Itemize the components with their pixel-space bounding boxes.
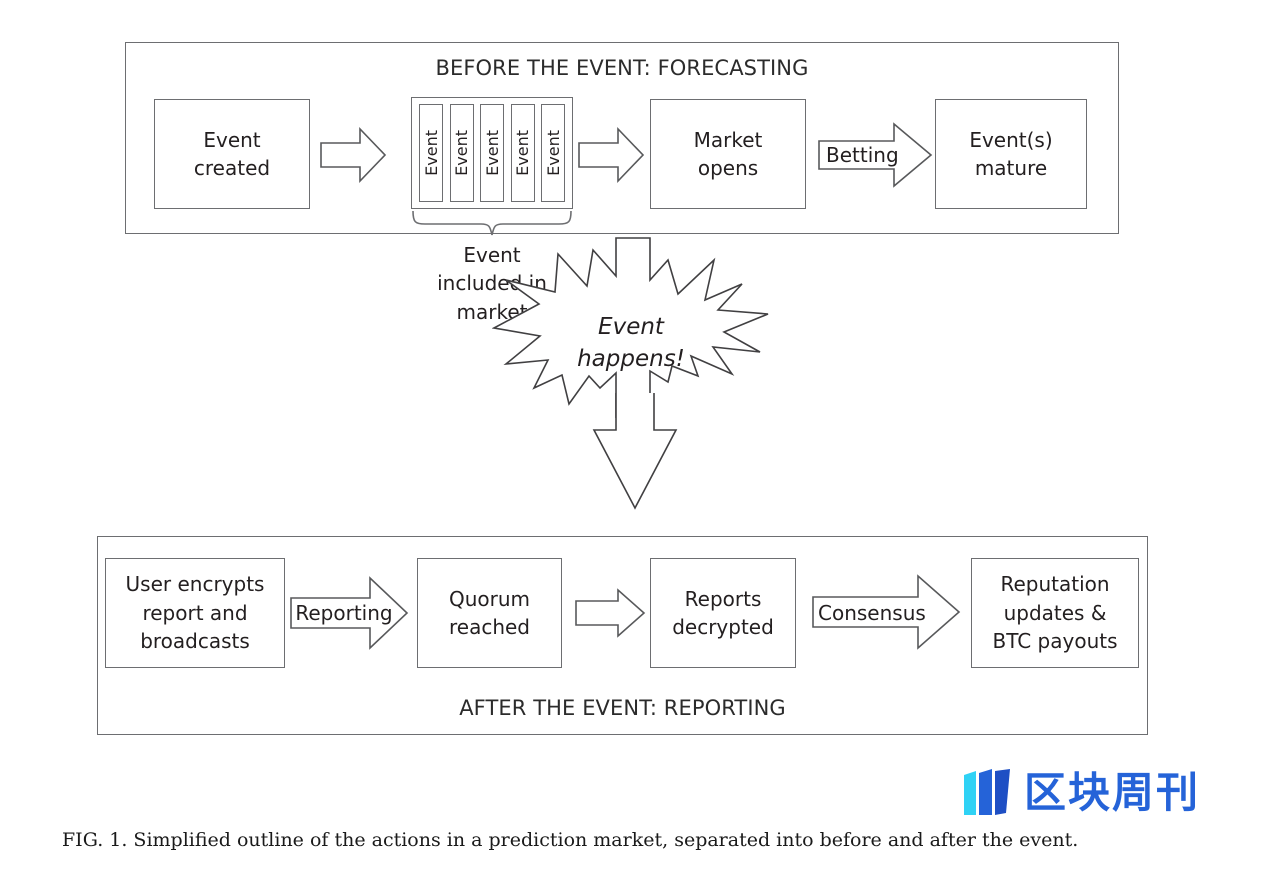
curly-brace-icon <box>411 210 573 236</box>
stack-card[interactable]: Event <box>541 104 565 202</box>
stack-card-label: Event <box>452 130 471 176</box>
stack-card[interactable]: Event <box>480 104 504 202</box>
box-market-opens[interactable]: Marketopens <box>650 99 806 209</box>
panel-before-title: BEFORE THE EVENT: FORECASTING <box>126 56 1118 80</box>
stack-card-label: Event <box>483 130 502 176</box>
stack-card-label: Event <box>544 130 563 176</box>
arrow-right-icon <box>578 126 644 184</box>
arrow-right-icon <box>320 126 386 184</box>
box-reputation-updates[interactable]: Reputationupdates &BTC payouts <box>971 558 1139 668</box>
arrow-down-icon <box>592 392 678 510</box>
logo-text: 区块周刊 <box>1024 772 1200 814</box>
event-stack[interactable]: Event Event Event Event Event <box>411 97 573 209</box>
box-quorum-reached[interactable]: Quorumreached <box>417 558 562 668</box>
box-user-encrypts-report[interactable]: User encryptsreport andbroadcasts <box>105 558 285 668</box>
box-reports-decrypted[interactable]: Reportsdecrypted <box>650 558 796 668</box>
arrow-label-consensus: Consensus <box>818 601 924 625</box>
stack-card-label: Event <box>513 130 532 176</box>
stack-card-label: Event <box>422 130 441 176</box>
arrow-label-betting: Betting <box>826 143 898 167</box>
box-event-created[interactable]: Eventcreated <box>154 99 310 209</box>
stack-card[interactable]: Event <box>511 104 535 202</box>
stack-card[interactable]: Event <box>419 104 443 202</box>
panel-after-title: AFTER THE EVENT: REPORTING <box>98 696 1147 720</box>
arrow-right-icon <box>575 588 645 638</box>
logo-mark-icon <box>962 769 1014 817</box>
arrow-label-reporting: Reporting <box>294 601 394 625</box>
figure-caption: FIG. 1. Simplified outline of the action… <box>62 829 1242 851</box>
watermark-logo: 区块周刊 <box>962 766 1248 820</box>
box-events-mature[interactable]: Event(s)mature <box>935 99 1087 209</box>
stack-card[interactable]: Event <box>450 104 474 202</box>
figure-canvas: BEFORE THE EVENT: FORECASTING Eventcreat… <box>0 0 1280 881</box>
burst-label: Eventhappens! <box>536 312 726 375</box>
